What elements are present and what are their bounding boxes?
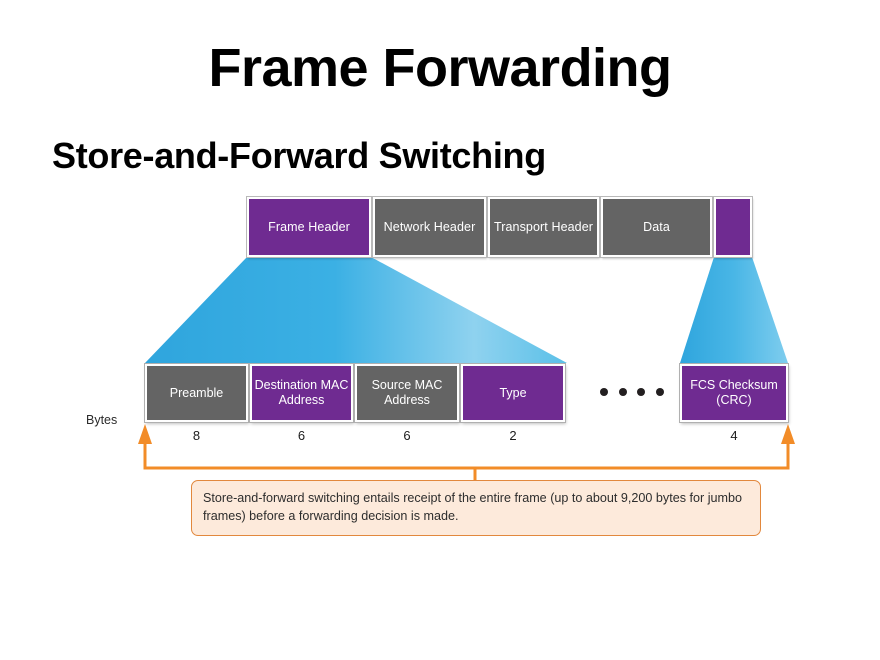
funnel-graphics: [0, 0, 880, 660]
bytes-axis-label: Bytes: [86, 413, 117, 427]
frame-field-fcs-checksum[interactable]: FCS Checksum (CRC): [680, 364, 788, 422]
byte-count-destination-mac: 6: [250, 428, 353, 443]
dot-icon: [619, 388, 627, 396]
frame-span-bracket: [145, 443, 788, 481]
byte-count-type: 2: [461, 428, 565, 443]
dot-icon: [656, 388, 664, 396]
byte-count-preamble: 8: [145, 428, 248, 443]
left-funnel-shape: [145, 257, 567, 363]
frame-field-destination-mac[interactable]: Destination MAC Address: [250, 364, 353, 422]
right-funnel-shape: [680, 257, 788, 363]
frame-field-preamble[interactable]: Preamble: [145, 364, 248, 422]
packet-box-label: Network Header: [384, 220, 476, 234]
frame-field-label: Destination MAC Address: [252, 378, 351, 408]
caption-callout: Store-and-forward switching entails rece…: [191, 480, 761, 536]
ellipsis-dots-icon: [600, 386, 664, 398]
frame-field-label: Type: [499, 386, 526, 401]
packet-box-label: Data: [643, 220, 670, 234]
dot-icon: [600, 388, 608, 396]
frame-field-source-mac[interactable]: Source MAC Address: [355, 364, 459, 422]
frame-field-label: Preamble: [170, 386, 224, 401]
frame-field-label: Source MAC Address: [357, 378, 457, 408]
frame-field-label: FCS Checksum (CRC): [682, 378, 786, 408]
byte-count-fcs-checksum: 4: [680, 428, 788, 443]
packet-box-frame-header[interactable]: Frame Header: [247, 197, 371, 257]
frame-forwarding-diagram: Frame Header Network Header Transport He…: [0, 0, 880, 660]
packet-box-network-header[interactable]: Network Header: [373, 197, 486, 257]
packet-box-data[interactable]: Data: [601, 197, 712, 257]
packet-box-label: Frame Header: [268, 220, 350, 234]
dot-icon: [637, 388, 645, 396]
byte-count-source-mac: 6: [355, 428, 459, 443]
frame-field-type[interactable]: Type: [461, 364, 565, 422]
packet-box-frame-trailer[interactable]: [714, 197, 752, 257]
packet-box-label: Transport Header: [494, 220, 593, 234]
packet-box-transport-header[interactable]: Transport Header: [488, 197, 599, 257]
